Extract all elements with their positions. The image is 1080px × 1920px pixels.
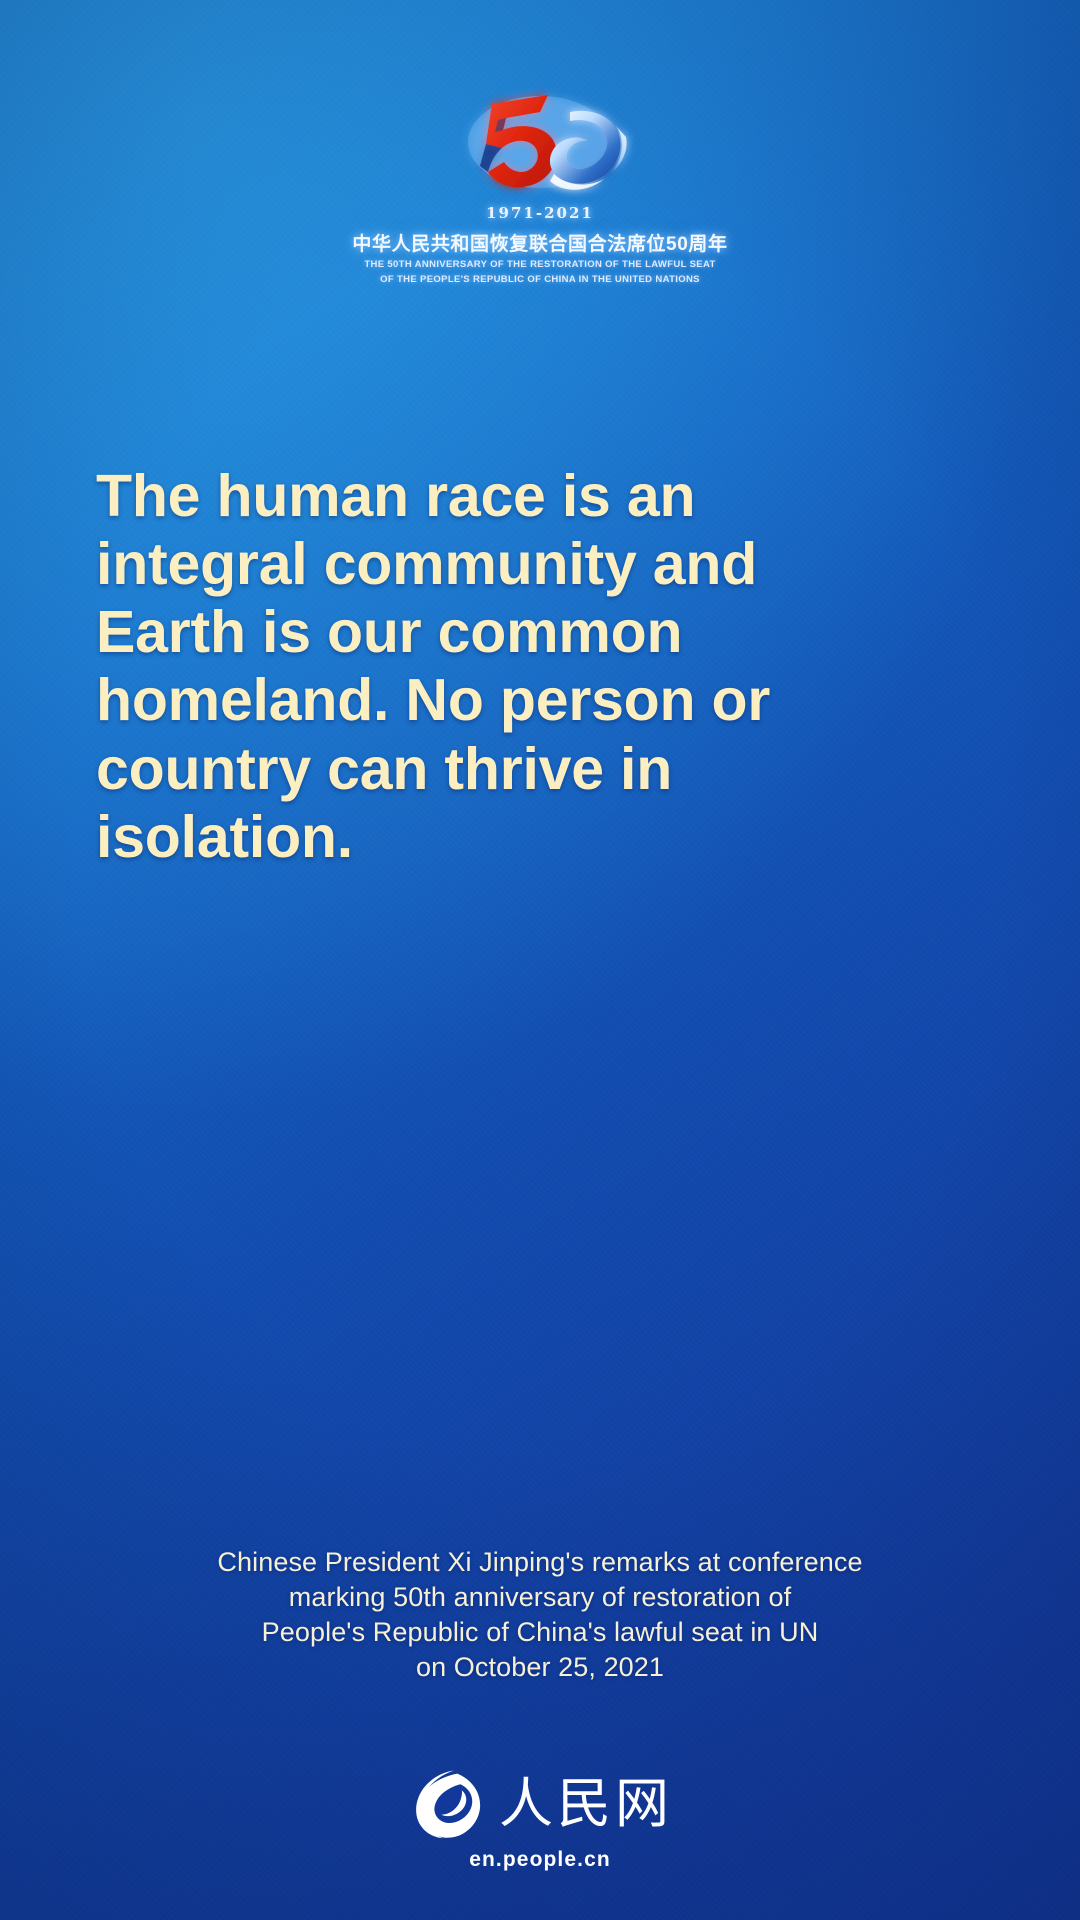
emblem-english-line-2: OF THE PEOPLE'S REPUBLIC OF CHINA IN THE… [380,274,700,286]
peoples-daily-logo[interactable]: 人民网 [407,1766,673,1842]
quote-line: Earth is our common [96,598,926,666]
anniversary-50-logo-icon [420,82,660,202]
quote-text: The human race is an integral community … [96,462,926,871]
quote-line: The human race is an [96,462,926,530]
brand-url[interactable]: en.people.cn [469,1848,611,1872]
attribution-line: Chinese President Xi Jinping's remarks a… [0,1545,1080,1580]
quote-line: homeland. No person or [96,666,926,734]
attribution-line: on October 25, 2021 [0,1650,1080,1685]
emblem-chinese-title: 中华人民共和国恢复联合国合法席位50周年 [352,229,727,256]
footer-branding: 人民网 en.people.cn [0,1766,1080,1872]
anniversary-emblem: 1971-2021 中华人民共和国恢复联合国合法席位50周年 THE 50TH … [0,82,1080,286]
globe-icon [407,1766,483,1842]
poster-canvas: 1971-2021 中华人民共和国恢复联合国合法席位50周年 THE 50TH … [0,0,1080,1920]
attribution-caption: Chinese President Xi Jinping's remarks a… [0,1545,1080,1685]
attribution-line: People's Republic of China's lawful seat… [0,1615,1080,1650]
emblem-years: 1971-2021 [486,204,594,222]
quote-line: isolation. [96,803,926,871]
quote-line: integral community and [96,530,926,598]
brand-chinese-name: 人民网 [499,1777,673,1831]
emblem-english-line-1: THE 50TH ANNIVERSARY OF THE RESTORATION … [364,259,715,271]
attribution-line: marking 50th anniversary of restoration … [0,1580,1080,1615]
quote-line: country can thrive in [96,735,926,803]
